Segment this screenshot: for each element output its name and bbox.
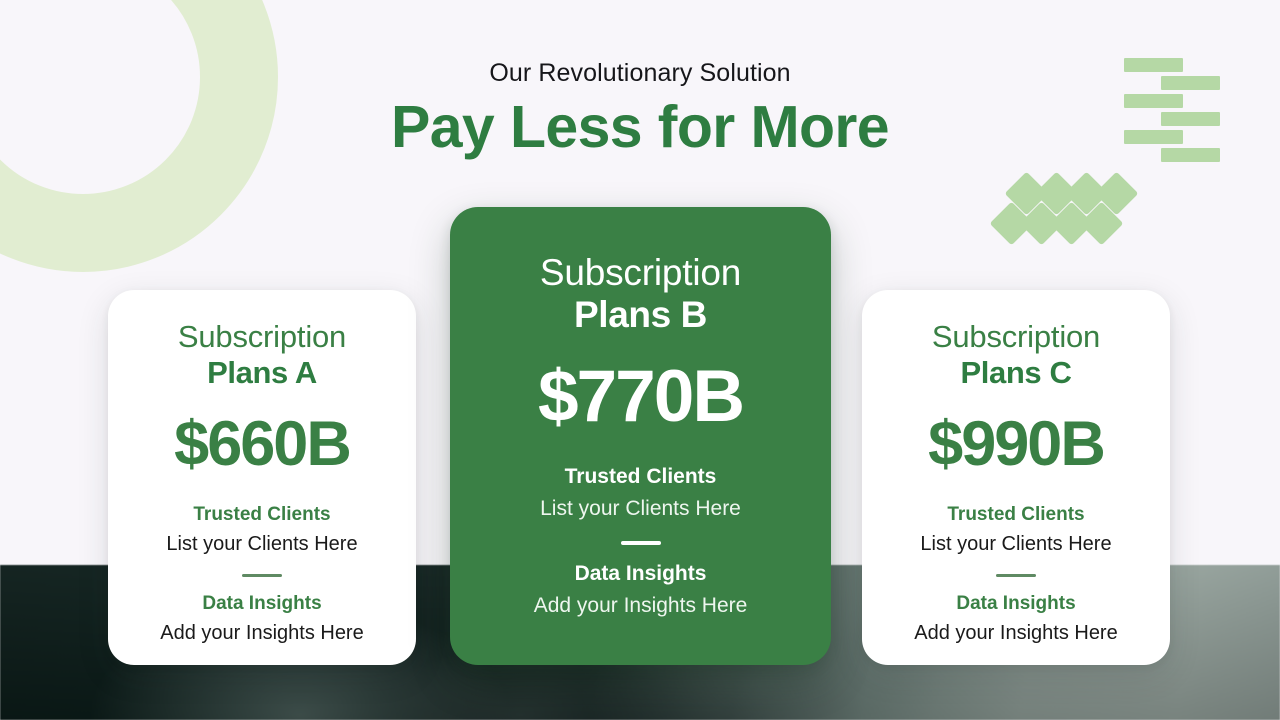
feature-text-trusted-clients: List your Clients Here <box>450 497 831 521</box>
diamond-pattern-decoration <box>1011 178 1131 240</box>
feature-text-trusted-clients: List your Clients Here <box>862 533 1170 556</box>
feature-title-data-insights: Data Insights <box>862 593 1170 615</box>
pricing-card-plan-b-featured[interactable]: Subscription Plans B $770B Trusted Clien… <box>450 207 831 665</box>
plan-subtitle: Subscription <box>862 321 1170 354</box>
card-divider <box>621 541 661 545</box>
feature-title-data-insights: Data Insights <box>450 562 831 586</box>
feature-title-trusted-clients: Trusted Clients <box>450 465 831 489</box>
plan-price: $660B <box>108 413 416 476</box>
plan-name: Plans A <box>108 356 416 391</box>
feature-text-data-insights: Add your Insights Here <box>862 622 1170 645</box>
feature-text-data-insights: Add your Insights Here <box>108 622 416 645</box>
feature-title-trusted-clients: Trusted Clients <box>862 504 1170 526</box>
plan-price: $770B <box>450 360 831 433</box>
card-divider <box>996 574 1036 577</box>
plan-price: $990B <box>862 413 1170 476</box>
plan-subtitle: Subscription <box>108 321 416 354</box>
plan-subtitle: Subscription <box>450 253 831 292</box>
slide-header: Our Revolutionary Solution Pay Less for … <box>0 0 1280 159</box>
feature-text-data-insights: Add your Insights Here <box>450 594 831 618</box>
feature-text-trusted-clients: List your Clients Here <box>108 533 416 556</box>
plan-name: Plans C <box>862 356 1170 391</box>
slide-eyebrow: Our Revolutionary Solution <box>0 59 1280 88</box>
plan-name: Plans B <box>450 294 831 335</box>
page-title: Pay Less for More <box>0 97 1280 159</box>
slide-canvas: Our Revolutionary Solution Pay Less for … <box>0 0 1280 720</box>
card-divider <box>242 574 282 577</box>
feature-title-data-insights: Data Insights <box>108 593 416 615</box>
pricing-card-plan-c[interactable]: Subscription Plans C $990B Trusted Clien… <box>862 290 1170 665</box>
pricing-card-plan-a[interactable]: Subscription Plans A $660B Trusted Clien… <box>108 290 416 665</box>
feature-title-trusted-clients: Trusted Clients <box>108 504 416 526</box>
